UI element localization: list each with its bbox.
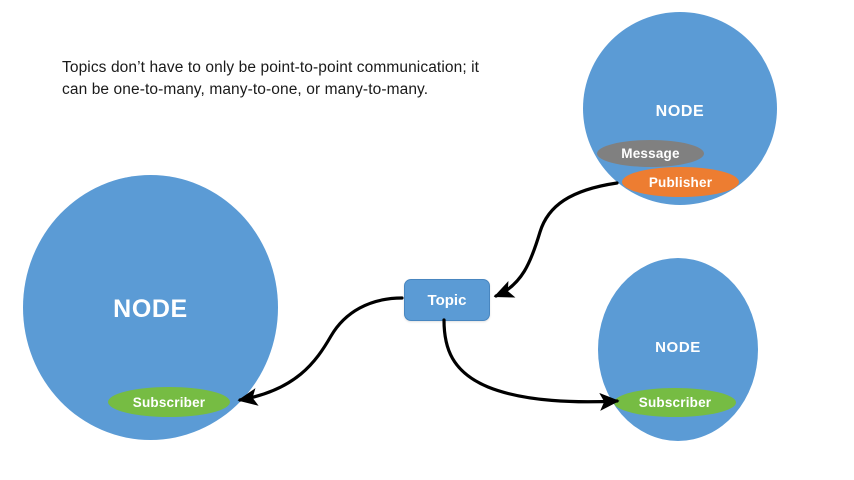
arrow-topic-to-bottom-right-subscriber [444,320,617,402]
slide-canvas: Topics don’t have to only be point-to-po… [0,0,854,480]
arrow-topic-to-left-subscriber [240,298,402,400]
arrow-publisher-to-topic [496,183,617,296]
connection-arrows-layer [0,0,854,480]
